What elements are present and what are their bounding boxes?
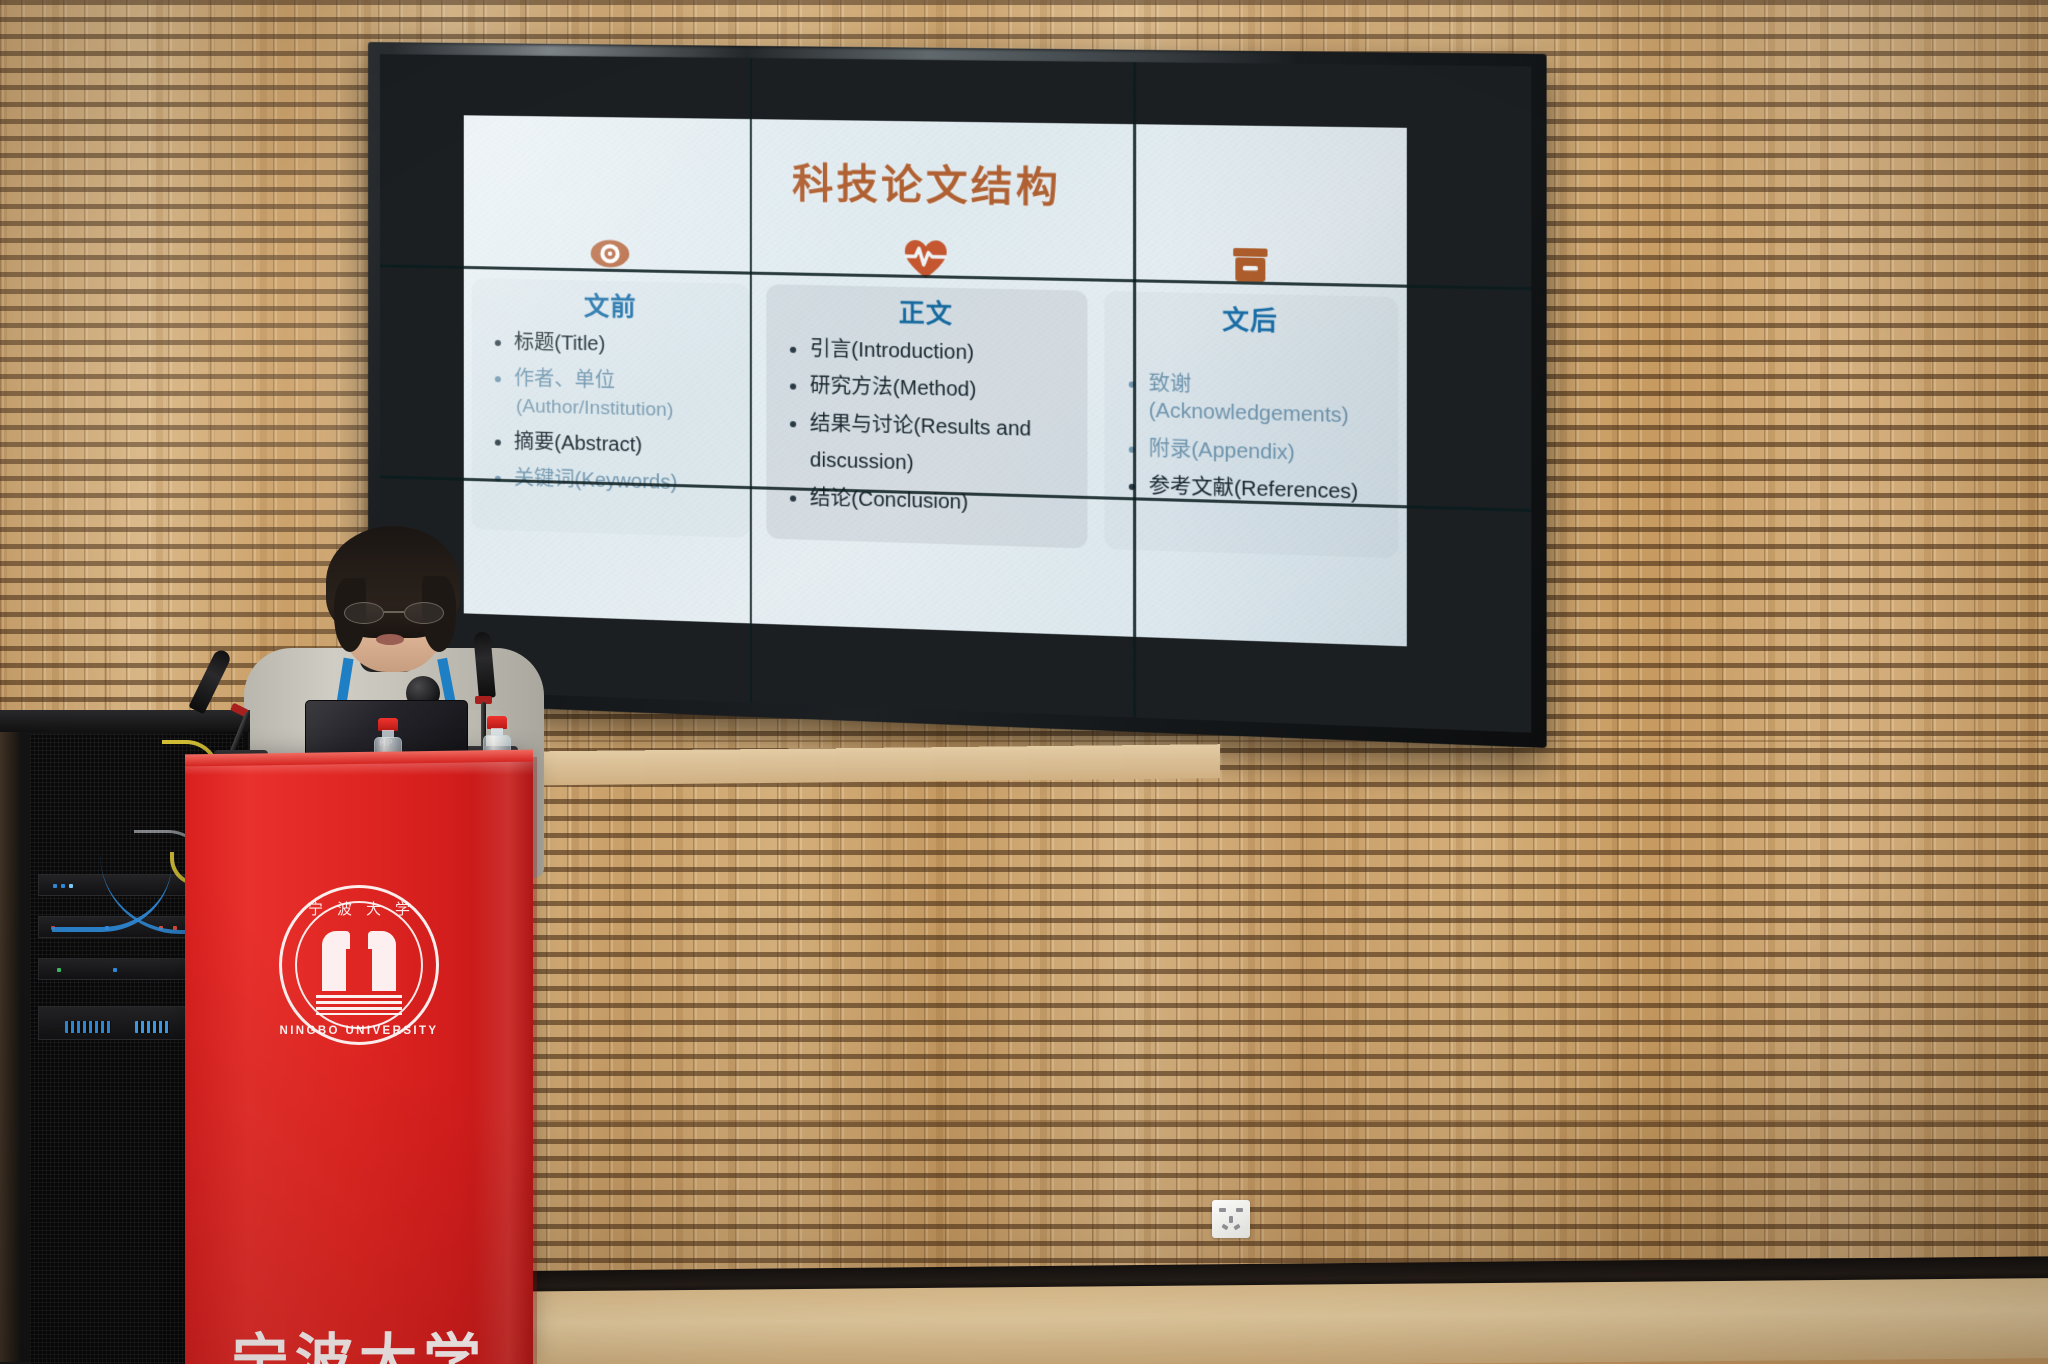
column-heading: 正文	[771, 290, 1083, 334]
logo-chinese-name: 宁波大学	[293, 898, 425, 919]
podium: 宁波大学 NINGBO UNIVERSITY 宁波大学	[185, 757, 533, 1364]
column-card: 文前 标题(Title) 作者、单位 (Author/Institution)	[472, 278, 750, 538]
bullet-text: 引言(Introduction)	[810, 338, 974, 364]
video-wall-display[interactable]: 科技论文结构	[368, 42, 1547, 748]
glasses-bridge	[384, 611, 404, 613]
column-heading: 文前	[476, 284, 746, 326]
outlet-slot	[1233, 1224, 1240, 1231]
slide-title: 科技论文结构	[464, 145, 1407, 219]
outlet-slot	[1221, 1224, 1228, 1231]
display-bezel: 科技论文结构	[368, 42, 1547, 748]
gate-pillar-right	[368, 931, 396, 991]
bullet-text: 结果与讨论(Results and	[810, 412, 1031, 440]
microphone-head	[473, 631, 496, 698]
outlet-slot	[1229, 1216, 1233, 1223]
presentation-slide: 科技论文结构	[464, 115, 1407, 646]
column-card: 文后 致谢(Acknowledgements) 附录(Appendix)	[1104, 291, 1398, 558]
logo-english-name: NINGBO UNIVERSITY	[279, 1025, 439, 1037]
bullet-item: 摘要(Abstract)	[488, 428, 744, 462]
bullet-item: 研究方法(Method)	[783, 372, 1081, 406]
bullet-item: 参考文献(References)	[1121, 472, 1392, 507]
presenter-glasses	[344, 602, 444, 624]
bullet-text: 标题(Title)	[514, 331, 605, 355]
bullet-text: 研究方法(Method)	[810, 375, 976, 402]
gate-gap	[346, 949, 372, 991]
bullet-item: 致谢(Acknowledgements)	[1121, 370, 1392, 432]
slide-column-back-matter: 文后 致谢(Acknowledgements) 附录(Appendix)	[1096, 239, 1407, 642]
presenter-mouth	[376, 634, 404, 645]
status-led	[57, 968, 61, 972]
display-screen: 科技论文结构	[380, 54, 1531, 733]
status-led-array	[65, 1021, 111, 1033]
bullet-text: 结论(Conclusion)	[810, 486, 968, 513]
glasses-lens-left	[344, 602, 384, 624]
status-led	[113, 968, 117, 972]
bullet-text: discussion)	[810, 449, 914, 474]
wall-power-outlet[interactable]	[1212, 1200, 1250, 1238]
bullet-text: 附录(Appendix)	[1149, 438, 1295, 465]
bullet-item-continuation: discussion)	[783, 447, 1081, 482]
bullet-subnote: (Author/Institution)	[514, 393, 744, 424]
podium-banner-text: 宁波大学	[185, 1314, 533, 1364]
ningbo-university-logo: 宁波大学 NINGBO UNIVERSITY	[279, 885, 439, 1045]
column-card: 正文 引言(Introduction) 研究方法(Method)	[767, 284, 1087, 548]
logo-steps	[316, 995, 402, 1015]
target-eye-icon	[472, 228, 750, 280]
outlet-slot	[1219, 1208, 1226, 1212]
bullet-text: 致谢(Acknowledgements)	[1149, 373, 1349, 428]
bullet-item: 标题(Title)	[488, 329, 744, 362]
slide-column-body: 正文 引言(Introduction) 研究方法(Method)	[758, 233, 1095, 631]
bullet-text: 摘要(Abstract)	[514, 431, 642, 457]
presentation-room-scene: 科技论文结构	[0, 0, 2048, 1364]
column-bullet-list: 标题(Title) 作者、单位 (Author/Institution) 摘要(…	[476, 328, 746, 498]
logo-gate-mark	[322, 931, 396, 997]
bullet-text: 参考文献(References)	[1149, 475, 1359, 504]
bullet-item: 附录(Appendix)	[1121, 435, 1392, 470]
bullet-item: 引言(Introduction)	[783, 335, 1081, 369]
bullet-text: 作者、单位	[514, 368, 615, 393]
gooseneck-microphone-left[interactable]	[200, 648, 270, 770]
slide-columns: 文前 标题(Title) 作者、单位 (Author/Institution)	[464, 228, 1407, 642]
bullet-item: 关键词(Keywords)	[488, 465, 744, 499]
column-bullet-list: 致谢(Acknowledgements) 附录(Appendix) 参考文献(R…	[1108, 343, 1394, 508]
bullet-item: 结论(Conclusion)	[783, 484, 1081, 520]
outlet-slot	[1236, 1208, 1243, 1212]
bullet-item: 作者、单位 (Author/Institution)	[488, 365, 744, 425]
heart-pulse-icon	[767, 233, 1087, 286]
column-heading: 文后	[1108, 297, 1394, 341]
glasses-lens-right	[404, 602, 444, 624]
archive-box-icon	[1104, 239, 1398, 292]
bullet-item: 结果与讨论(Results and	[783, 409, 1081, 444]
bullet-text: 关键词(Keywords)	[514, 467, 677, 494]
column-bullet-list: 引言(Introduction) 研究方法(Method) 结果与讨论(Resu…	[771, 335, 1083, 519]
status-led-array	[135, 1021, 169, 1033]
